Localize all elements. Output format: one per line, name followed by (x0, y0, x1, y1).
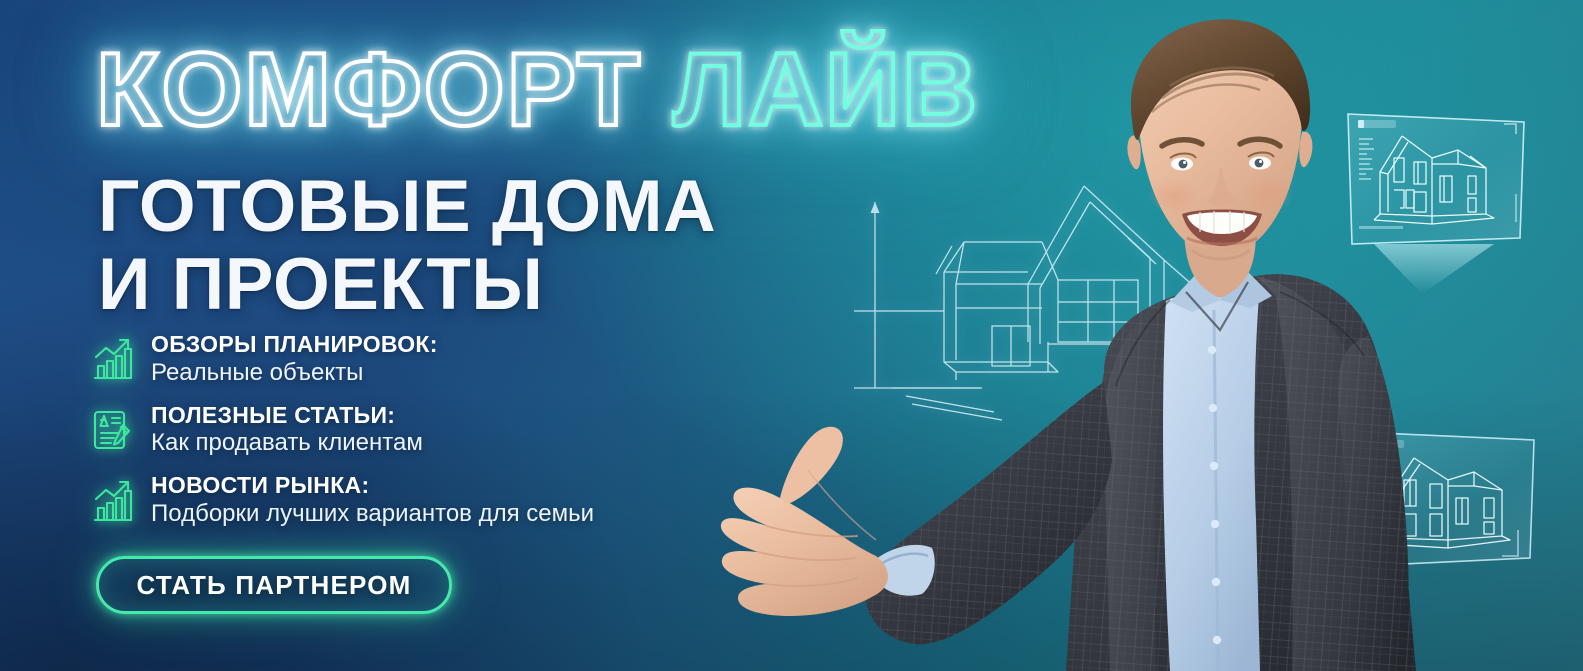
list-item-text: ПОЛЕЗНЫЕ СТАТЬИ: Как продавать клиентам (151, 403, 423, 458)
become-partner-label: СТАТЬ ПАРТНЕРОМ (137, 570, 412, 601)
promo-banner: КОМФОРТ ЛАЙВ ГОТОВЫЕ ДОМА И ПРОЕКТЫ ОБЗО… (0, 0, 1583, 671)
page-title: ГОТОВЫЕ ДОМА И ПРОЕКТЫ (98, 168, 716, 324)
list-item-subtitle: Как продавать клиентам (151, 430, 423, 457)
brand-word-komfort: КОМФОРТ (96, 32, 642, 148)
hologram-house-panel-top (1318, 98, 1530, 298)
list-item: ОБЗОРЫ ПЛАНИРОВОК: Реальные объекты (90, 332, 594, 387)
list-item-title: НОВОСТИ РЫНКА: (151, 473, 594, 499)
document-pencil-icon (90, 406, 134, 454)
feature-list: ОБЗОРЫ ПЛАНИРОВОК: Реальные объекты ПОЛЕ… (90, 332, 594, 528)
list-item-title: ОБЗОРЫ ПЛАНИРОВОК: (151, 332, 438, 358)
list-item-text: ОБЗОРЫ ПЛАНИРОВОК: Реальные объекты (151, 332, 438, 387)
list-item: НОВОСТИ РЫНКА: Подборки лучших вариантов… (90, 473, 594, 528)
become-partner-button[interactable]: СТАТЬ ПАРТНЕРОМ (96, 556, 452, 614)
bar-chart-growth-icon (90, 477, 134, 525)
list-item-subtitle: Реальные объекты (151, 360, 438, 387)
list-item: ПОЛЕЗНЫЕ СТАТЬИ: Как продавать клиентам (90, 403, 594, 458)
hologram-house-panel-bottom (1332, 418, 1540, 614)
list-item-title: ПОЛЕЗНЫЕ СТАТЬИ: (151, 403, 423, 429)
headline-line-2: И ПРОЕКТЫ (98, 246, 716, 324)
list-item-subtitle: Подборки лучших вариантов для семьи (151, 501, 594, 528)
brand-neon-wordmark: КОМФОРТ ЛАЙВ (96, 38, 979, 142)
brand-word-live: ЛАЙВ (673, 32, 979, 148)
house-blueprint-sketch (852, 176, 1212, 426)
bar-chart-growth-icon (90, 335, 134, 383)
list-item-text: НОВОСТИ РЫНКА: Подборки лучших вариантов… (151, 473, 594, 528)
headline-line-1: ГОТОВЫЕ ДОМА (98, 168, 716, 246)
